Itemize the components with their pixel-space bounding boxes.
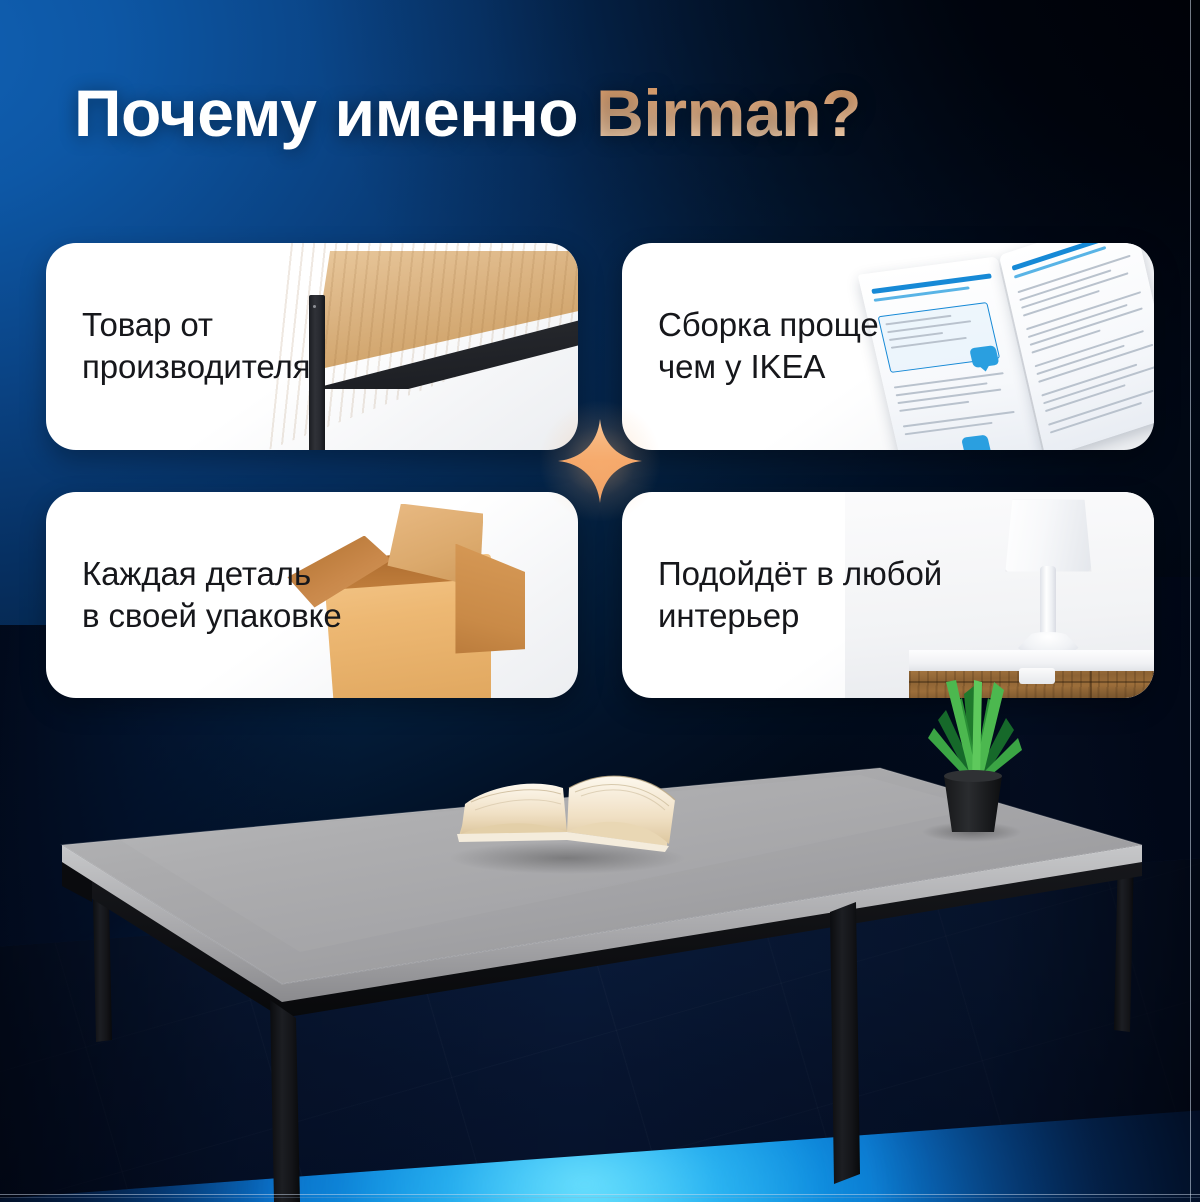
plant-leaves bbox=[928, 680, 1022, 784]
bottom-edge-line-secondary bbox=[0, 1197, 1200, 1198]
infographic-banner: Почему именно Birman? Товар от производи… bbox=[0, 0, 1200, 1202]
lamp-shade-shape bbox=[1005, 500, 1091, 572]
grey-desk-product-photo bbox=[0, 640, 1200, 1202]
desk-leg-shape bbox=[309, 295, 325, 450]
feature-card-label: Каждая деталь в своей упаковке bbox=[82, 553, 342, 637]
wooden-desk-corner-image bbox=[269, 243, 578, 450]
feature-card-grid: Товар от производителя bbox=[46, 243, 1154, 698]
right-edge-line bbox=[1190, 0, 1191, 1202]
brand-name: Birman? bbox=[596, 76, 865, 150]
desk-leg-near-right bbox=[830, 902, 860, 1184]
plant-pot-rim bbox=[944, 770, 1002, 782]
assembly-manual-image bbox=[845, 243, 1154, 450]
box-flap-right bbox=[455, 544, 525, 654]
plant-pot bbox=[944, 776, 1002, 832]
feature-card-manufacturer[interactable]: Товар от производителя bbox=[46, 243, 578, 450]
page-title: Почему именно Birman? bbox=[74, 80, 865, 146]
feature-card-label: Товар от производителя bbox=[82, 304, 310, 388]
desk-leg-near-left bbox=[270, 1000, 300, 1202]
headline-prefix: Почему именно bbox=[74, 76, 596, 150]
bottom-edge-line bbox=[0, 1194, 1200, 1195]
open-manual-shape bbox=[860, 243, 1154, 450]
feature-card-label: Подойдёт в любой интерьер bbox=[658, 553, 942, 637]
feature-card-label: Сборка проще чем у IKEA bbox=[658, 304, 879, 388]
feature-card-assembly[interactable]: Сборка проще чем у IKEA bbox=[622, 243, 1154, 450]
